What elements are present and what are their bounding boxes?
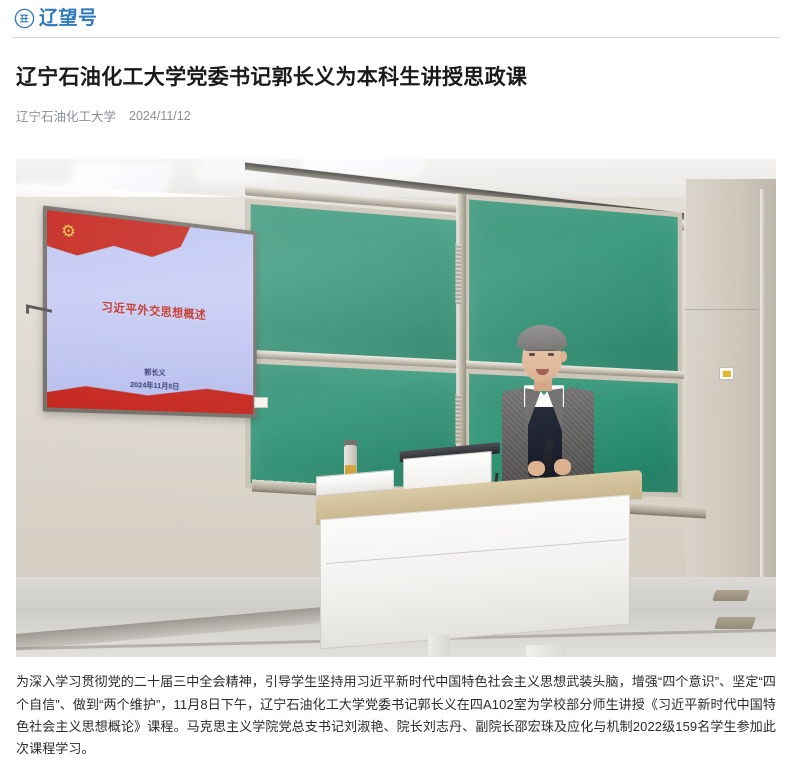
classroom-scene: ⚙ 习近平外交思想概述 郭长义 2024年11月8日: [16, 159, 776, 657]
projection-screen: ⚙ 习近平外交思想概述 郭长义 2024年11月8日: [43, 206, 257, 419]
lectern-leg: [428, 635, 450, 657]
article-body: 为深入学习贯彻党的二十届三中全会精神，引导学生坚持用习近平新时代中国特色社会主义…: [16, 671, 776, 760]
lectern-body: [320, 495, 630, 650]
wall-seam: [684, 309, 758, 310]
brand-name: 辽望号: [39, 9, 98, 28]
lecturer-eye: [548, 353, 554, 356]
lecturer-hair: [517, 325, 567, 351]
page-title: 辽宁石油化工大学党委书记郭长义为本科生讲授思政课: [16, 64, 776, 91]
article-paragraph: 为深入学习贯彻党的二十届三中全会精神，引导学生坚持用习近平新时代中国特色社会主义…: [16, 671, 776, 760]
lectern: [316, 459, 642, 649]
slide-title: 习近平外交思想概述: [47, 294, 253, 326]
lecturer-ear: [560, 351, 567, 362]
slide-red-banner-top: [47, 210, 192, 282]
lecturer-eye: [529, 353, 535, 356]
brand-logo-link[interactable]: 辽望号: [14, 8, 98, 29]
wall-outlet: [254, 397, 268, 408]
byline: 辽宁石油化工大学 2024/11/12: [16, 106, 776, 125]
wall-outlet: [719, 367, 734, 380]
blackboard-rail-label: [455, 244, 461, 305]
blackboard-panel: [245, 199, 462, 367]
header-divider: [12, 37, 780, 38]
article-source: 辽宁石油化工大学: [16, 106, 116, 125]
article-container: 辽宁石油化工大学党委书记郭长义为本科生讲授思政课 辽宁石油化工大学 2024/1…: [0, 64, 792, 761]
projection-slide: ⚙ 习近平外交思想概述 郭长义 2024年11月8日: [47, 210, 253, 414]
circle-badge-icon: [14, 8, 35, 29]
article-photo[interactable]: ⚙ 习近平外交思想概述 郭长义 2024年11月8日: [16, 159, 776, 657]
blackboard-rail-label: [455, 394, 461, 444]
app-header: 辽望号: [0, 0, 792, 37]
floor-marking: [714, 617, 756, 629]
article-date: 2024/11/12: [129, 109, 191, 123]
wall-corner: [760, 189, 766, 609]
lectern-leg: [526, 645, 566, 657]
floor-marking: [712, 590, 750, 601]
party-emblem-icon: ⚙: [60, 222, 78, 242]
